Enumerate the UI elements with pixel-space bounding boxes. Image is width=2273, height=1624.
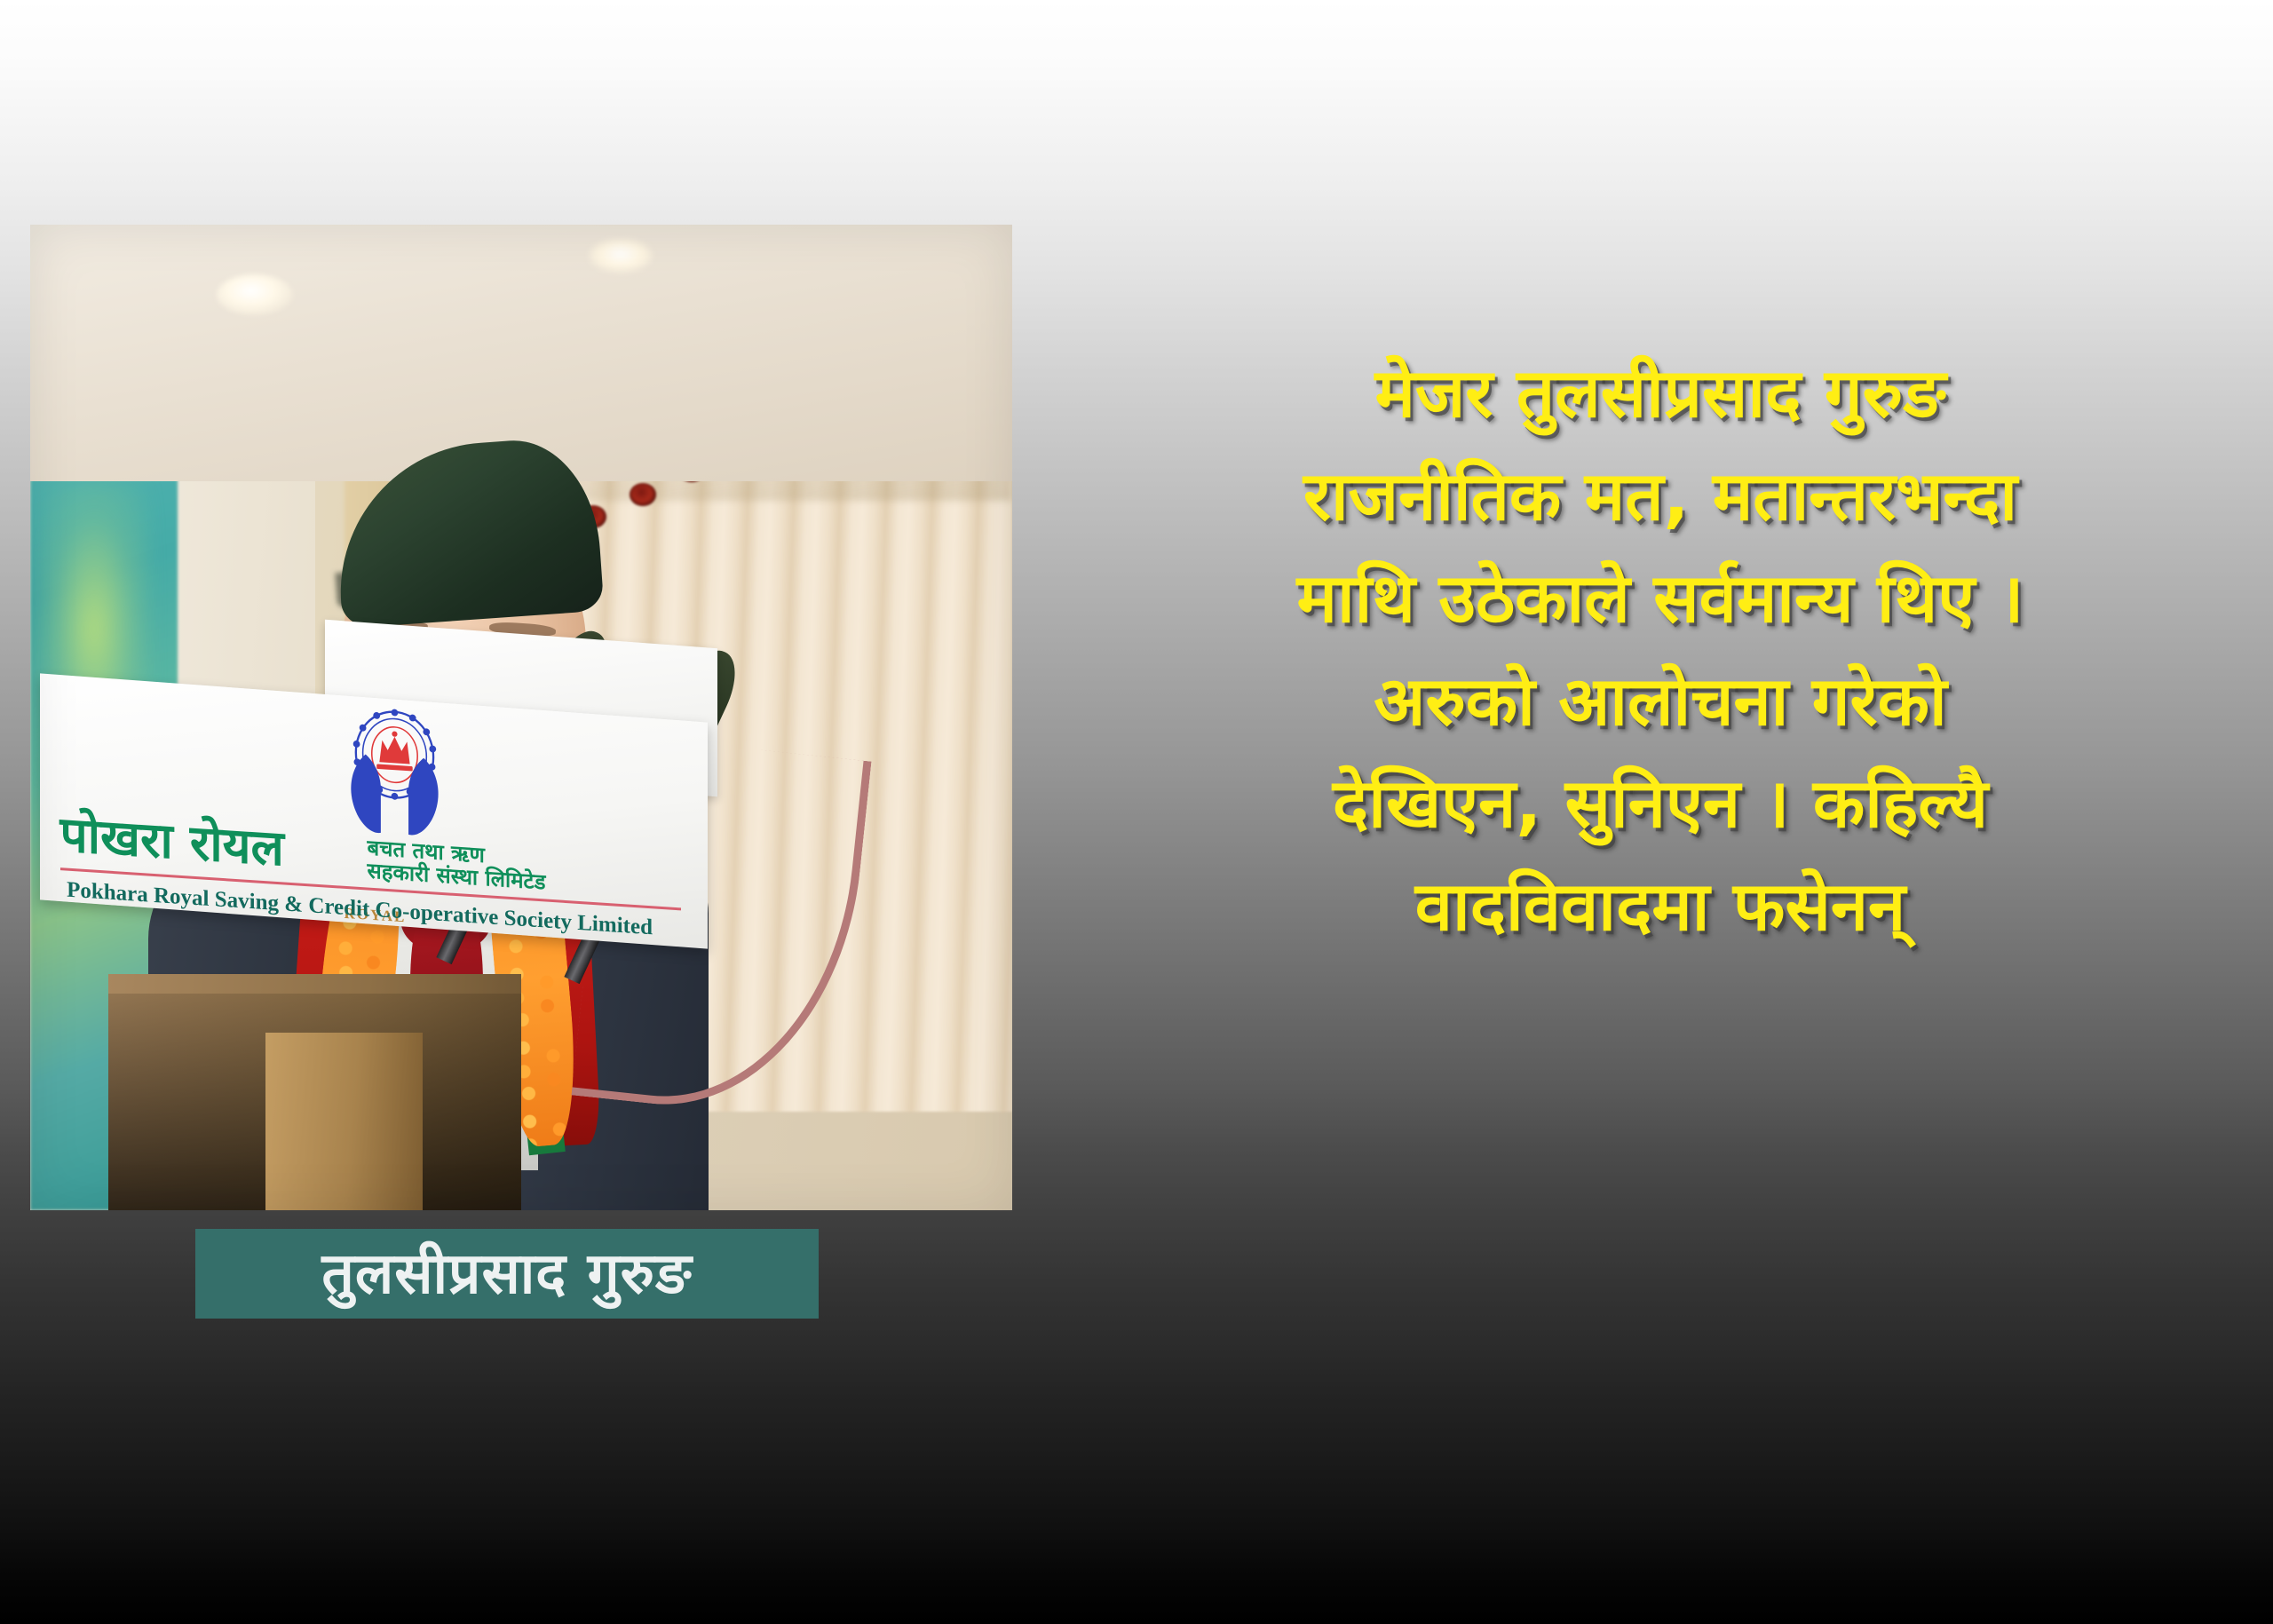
podium-sign-nepali-main: पोखरा रोयल — [60, 810, 284, 873]
speaker-photo: ROYAL पोखरा रोयल बचत तथा ऋण सहकारी संस्थ… — [30, 225, 1012, 1210]
podium-sign-nepali-sub: बचत तथा ऋण सहकारी संस्था लिमिटेड — [368, 836, 546, 895]
headline-line-5: देखिएन, सुनिएन । कहिल्यै — [1079, 752, 2242, 855]
poster-canvas: ROYAL पोखरा रोयल बचत तथा ऋण सहकारी संस्थ… — [0, 0, 2273, 1624]
ceiling-light-icon — [217, 274, 293, 315]
headline-block: मेजर तुलसीप्रसाद गुरुङ राजनीतिक मत, मतान… — [1079, 342, 2242, 957]
photo-scene: ROYAL पोखरा रोयल बचत तथा ऋण सहकारी संस्थ… — [30, 225, 1012, 1210]
ceiling-light-icon — [590, 240, 652, 272]
speaker-name-label: तुलसीप्रसाद गुरुङ — [321, 1246, 692, 1303]
headline-line-1: मेजर तुलसीप्रसाद गुरुङ — [1079, 342, 2242, 445]
dhaka-topi-cap — [331, 435, 605, 629]
speaker-name-banner: तुलसीप्रसाद गुरुङ — [195, 1229, 819, 1319]
podium-stem — [265, 1033, 423, 1210]
royal-logo-svg — [308, 701, 482, 844]
headline-line-4: अरुको आलोचना गरेको — [1079, 650, 2242, 753]
headline-line-6: वादविवादमा फसेनन् — [1079, 855, 2242, 958]
headline-line-2: राजनीतिक मत, मतान्तरभन्दा — [1079, 445, 2242, 548]
royal-logo-icon — [308, 701, 482, 844]
headline-line-3: माथि उठेकाले सर्वमान्य थिए । — [1079, 547, 2242, 650]
